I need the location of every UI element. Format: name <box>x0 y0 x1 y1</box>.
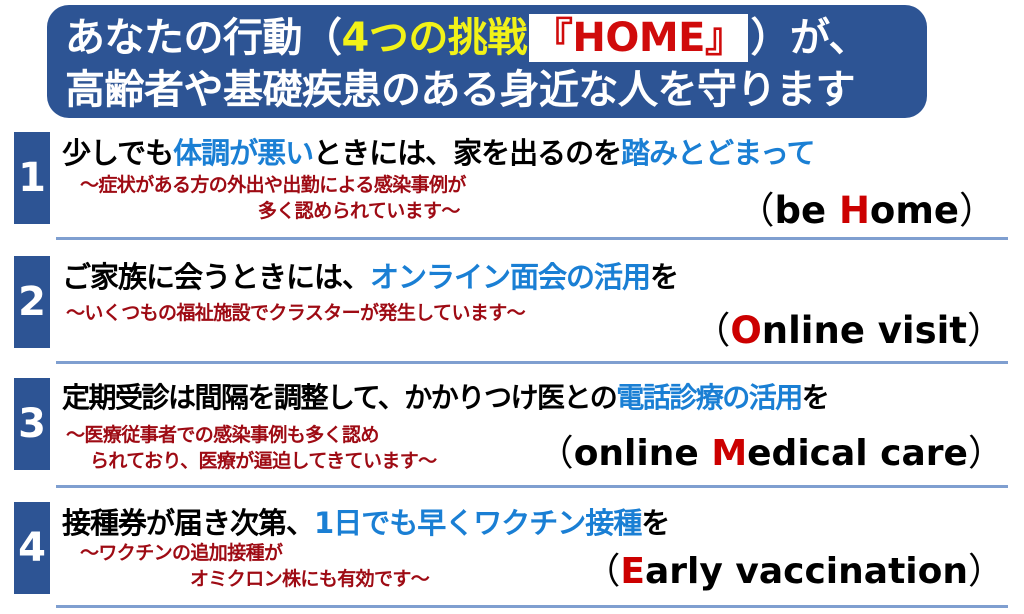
headline-segment-highlight: 電話診療の活用 <box>616 381 802 414</box>
headline-segment-highlight: オンライン面会の活用 <box>370 260 650 294</box>
item-content: 少しでも体調が悪いときには、家を出るのを踏みとどまって 〜症状がある方の外出や出… <box>58 128 1014 246</box>
list-item: 4 接種券が届き次第、1日でも早くワクチン接種を 〜ワクチンの追加接種が オミク… <box>0 498 1024 614</box>
item-note-line2: オミクロン株にも有効です〜 <box>80 566 429 592</box>
list-item: 1 少しでも体調が悪いときには、家を出るのを踏みとどまって 〜症状がある方の外出… <box>0 128 1024 246</box>
english-close-paren: ） <box>967 309 1004 352</box>
english-close-paren: ） <box>959 189 996 232</box>
english-open-paren: （ <box>693 309 730 352</box>
item-divider <box>56 361 1008 364</box>
banner-text-pre: あなたの行動（ <box>65 11 342 65</box>
item-content: 定期受診は間隔を調整して、かかりつけ医との電話診療の活用を 〜医療従事者での感染… <box>58 374 1014 494</box>
item-divider <box>56 485 1008 488</box>
item-note: 〜症状がある方の外出や出勤による感染事例が 多く認められています〜 <box>80 172 466 224</box>
item-note-line2: 多く認められています〜 <box>80 198 466 224</box>
english-close-paren: ） <box>968 433 1004 474</box>
english-acronym-letter: M <box>711 433 747 474</box>
list-item: 2 ご家族に会うときには、オンライン面会の活用を 〜いくつもの福祉施設でクラスタ… <box>0 252 1024 370</box>
item-divider <box>56 605 1008 608</box>
english-close-paren: ） <box>968 551 1004 592</box>
item-note-line1: 〜症状がある方の外出や出勤による感染事例が <box>80 174 466 196</box>
headline-segment: 少しでも <box>62 136 173 170</box>
header-banner: あなたの行動（ 4つの挑戦 『HOME』 ）が、 高齢者や基礎疾患のある身近な人… <box>47 5 927 118</box>
english-acronym-letter: O <box>730 309 761 352</box>
banner-line-2: 高齢者や基礎疾患のある身近な人を守ります <box>65 65 927 115</box>
list-item: 3 定期受診は間隔を調整して、かかりつけ医との電話診療の活用を 〜医療従事者での… <box>0 374 1024 494</box>
item-headline: 接種券が届き次第、1日でも早くワクチン接種を <box>62 500 669 542</box>
headline-segment: ときには、家を出るのを <box>313 136 621 170</box>
poster: あなたの行動（ 4つの挑戦 『HOME』 ）が、 高齢者や基礎疾患のある身近な人… <box>0 0 1024 614</box>
item-english-phrase: （Early vaccination） <box>584 542 1004 594</box>
english-rest: ome <box>870 189 959 232</box>
english-rest: arly vaccination <box>645 551 968 592</box>
item-number-badge: 4 <box>14 502 50 594</box>
item-english-phrase: （Online visit） <box>693 300 1004 354</box>
item-content: ご家族に会うときには、オンライン面会の活用を 〜いくつもの福祉施設でクラスターが… <box>58 252 1014 370</box>
english-acronym-letter: E <box>620 551 645 592</box>
headline-segment: 定期受診は間隔を調整して、かかりつけ医との <box>62 381 616 414</box>
english-rest: edical care <box>747 433 968 474</box>
item-headline: ご家族に会うときには、オンライン面会の活用を <box>62 254 678 296</box>
item-content: 接種券が届き次第、1日でも早くワクチン接種を 〜ワクチンの追加接種が オミクロン… <box>58 498 1014 614</box>
english-open-paren: （ <box>538 433 574 474</box>
banner-line-1: あなたの行動（ 4つの挑戦 『HOME』 ）が、 <box>65 11 927 65</box>
item-number-badge: 2 <box>14 256 50 348</box>
english-open-paren: （ <box>737 189 774 232</box>
english-lead: be <box>774 189 838 232</box>
item-headline: 定期受診は間隔を調整して、かかりつけ医との電話診療の活用を <box>62 376 828 416</box>
banner-text-yellow: 4つの挑戦 <box>342 11 527 65</box>
headline-segment: を <box>650 260 678 294</box>
headline-segment: を <box>641 506 669 540</box>
headline-segment-highlight: 体調が悪い <box>173 136 313 170</box>
headline-segment: ご家族に会うときには、 <box>62 260 370 294</box>
english-rest: nline visit <box>762 309 967 352</box>
item-note-line2: られており、医療が逼迫してきています〜 <box>66 448 437 474</box>
item-note: 〜医療従事者での感染事例も多く認め られており、医療が逼迫してきています〜 <box>66 422 437 474</box>
item-english-phrase: （online Medical care） <box>538 424 1004 476</box>
home-acronym-box: 『HOME』 <box>529 14 749 62</box>
item-note: 〜いくつもの福祉施設でクラスターが発生しています〜 <box>66 300 525 326</box>
item-note: 〜ワクチンの追加接種が オミクロン株にも有効です〜 <box>80 540 429 592</box>
banner-text-post: ）が、 <box>750 11 868 65</box>
item-note-line1: 〜ワクチンの追加接種が <box>80 542 282 564</box>
item-note-line1: 〜いくつもの福祉施設でクラスターが発生しています〜 <box>66 302 525 324</box>
english-lead: online <box>574 433 712 474</box>
headline-segment: 接種券が届き次第、 <box>62 506 314 540</box>
item-headline: 少しでも体調が悪いときには、家を出るのを踏みとどまって <box>62 130 815 172</box>
english-open-paren: （ <box>584 551 620 592</box>
item-english-phrase: （be Home） <box>737 180 996 234</box>
english-acronym-letter: H <box>839 189 870 232</box>
item-number-badge: 3 <box>14 378 50 470</box>
item-divider <box>56 237 1008 240</box>
item-note-line1: 〜医療従事者での感染事例も多く認め <box>66 424 379 446</box>
headline-segment: を <box>802 381 829 414</box>
headline-segment-highlight: 1日でも早くワクチン接種 <box>314 506 641 540</box>
item-number-badge: 1 <box>14 132 50 224</box>
headline-segment-highlight: 踏みとどまって <box>621 136 814 170</box>
